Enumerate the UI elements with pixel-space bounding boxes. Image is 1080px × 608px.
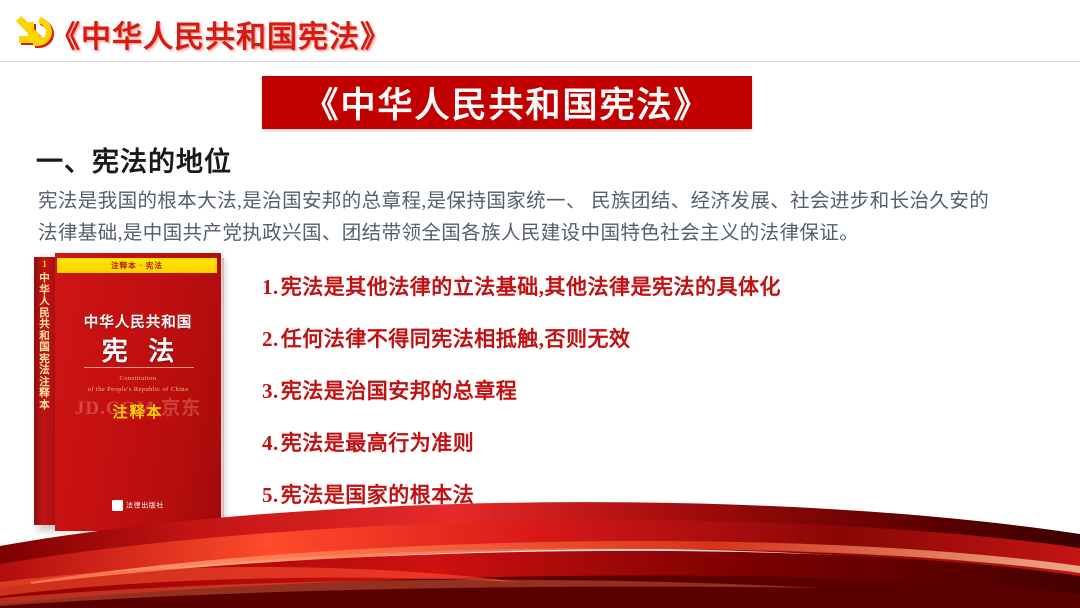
book-subtitle: 注释本 [55,401,221,422]
list-item-text: 宪法是最高行为准则 [281,431,475,455]
header-title: 《中华人民共和国宪法》 [50,12,391,56]
slide-canvas: 《中华人民共和国宪法》 《中华人民共和国宪法》 一、宪法的地位 宪法是我国的根本… [0,0,1080,608]
book-title-english-line2: of the People's Republic of China [55,386,221,393]
title-banner-text: 《中华人民共和国宪法》 [303,77,710,128]
book-spine-text: 中华人民共和国宪法注释本 [37,273,52,411]
book-band-text: 注释本 · 宪法 [111,260,163,271]
list-item-number: 1. [262,275,279,299]
paragraph-line: 法律基础,是中国共产党执政兴国、团结带领全国各族人民建设中国特色社会主义的法律保… [38,218,1048,250]
body-paragraph: 宪法是我国的根本大法,是治国安邦的总章程,是保持国家统一、 民族团结、经济发展、… [38,186,1048,250]
book-spine-number: 1 [36,259,53,269]
list-item-number: 4. [262,431,279,455]
paragraph-line: 宪法是我国的根本大法,是治国安邦的总章程,是保持国家统一、 民族团结、经济发展、… [38,186,1048,218]
list-item-text: 宪法是其他法律的立法基础,其他法律是宪法的具体化 [281,275,781,299]
list-item-text: 宪法是治国安邦的总章程 [281,379,518,403]
list-item-number: 2. [262,327,279,351]
section-heading: 一、宪法的地位 [36,140,232,179]
header-divider [0,61,1080,62]
list-item-number: 3. [262,379,279,403]
list-item: 4.宪法是最高行为准则 [262,424,1022,476]
list-item: 3.宪法是治国安邦的总章程 [262,372,1022,424]
book-title-divider [84,367,194,368]
book-title-main: 宪 法 [55,331,221,368]
list-item: 2.任何法律不得同宪法相抵触,否则无效 [262,320,1022,372]
book-title-country: 中华人民共和国 [55,311,221,332]
bottom-ribbon-decoration [0,478,1080,608]
title-banner: 《中华人民共和国宪法》 [262,76,752,129]
book-title-english-line1: Constitution [55,375,221,382]
list-item: 1.宪法是其他法律的立法基础,其他法律是宪法的具体化 [262,268,1022,320]
slide-header: 《中华人民共和国宪法》 [0,0,1080,62]
list-item-text: 任何法律不得同宪法相抵触,否则无效 [281,327,631,351]
book-yellow-band: 注释本 · 宪法 [57,258,217,273]
